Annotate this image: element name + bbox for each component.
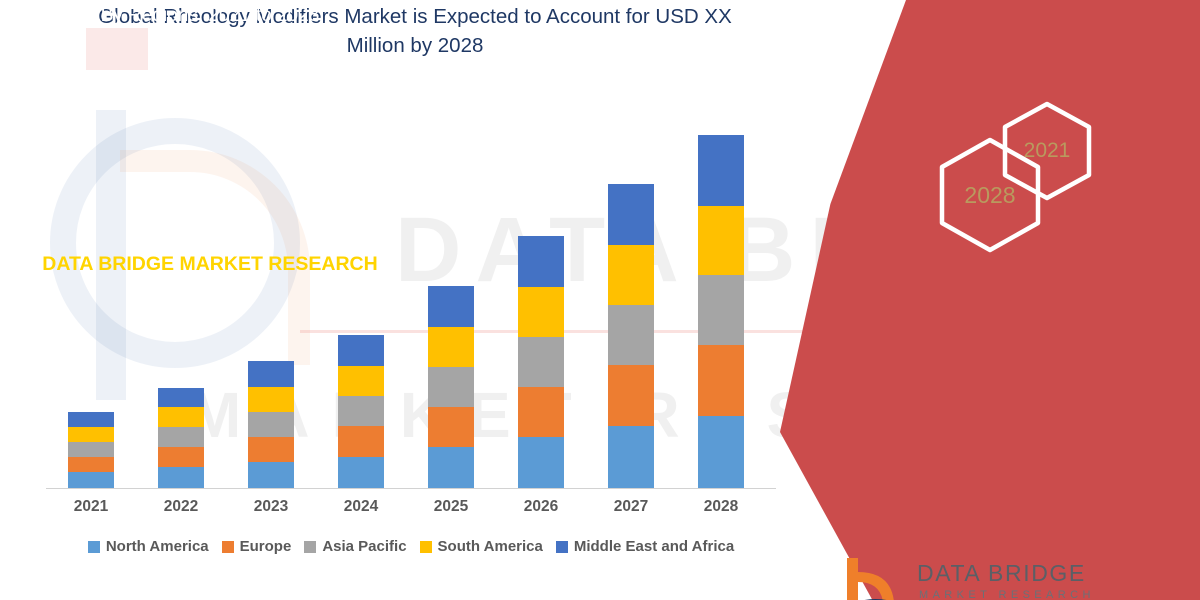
legend-swatch-icon — [420, 541, 432, 553]
bar-segment — [518, 236, 564, 287]
x-axis-label-2028: 2028 — [676, 498, 766, 516]
legend-item[interactable]: Middle East and Africa — [556, 538, 734, 555]
brand-logo-tagline: MARKET RESEARCH — [919, 589, 1095, 600]
bar-segment — [608, 184, 654, 245]
bar-segment — [338, 366, 384, 396]
legend-swatch-icon — [88, 541, 100, 553]
x-axis-label-2026: 2026 — [496, 498, 586, 516]
bar-segment — [698, 345, 744, 416]
bar-segment — [68, 457, 114, 472]
bar-segment — [608, 426, 654, 488]
x-axis-label-2024: 2024 — [316, 498, 406, 516]
bar-segment — [518, 337, 564, 387]
x-axis-line — [46, 488, 776, 489]
panel-brand-text: DATA BRIDGE MARKET RESEARCH — [40, 250, 380, 279]
bar-segment — [428, 447, 474, 488]
bar-segment — [158, 467, 204, 488]
bar-segment — [338, 457, 384, 488]
stacked-bar-2023 — [248, 361, 294, 488]
hexagon-badge-2021-label: 2021 — [1024, 139, 1071, 163]
panel-heading: By Regions, 2021 to 2028 — [0, 5, 420, 27]
legend-item[interactable]: Asia Pacific — [304, 538, 406, 555]
x-axis-label-2022: 2022 — [136, 498, 226, 516]
legend-swatch-icon — [304, 541, 316, 553]
x-axis-label-2023: 2023 — [226, 498, 316, 516]
stacked-bar-2026 — [518, 236, 564, 488]
legend-swatch-icon — [556, 541, 568, 553]
bar-segment — [428, 286, 474, 327]
bar-segment — [428, 367, 474, 407]
bar-segment — [698, 206, 744, 275]
bar-segment — [248, 361, 294, 387]
bar-segment — [68, 442, 114, 457]
bar-segment — [338, 396, 384, 426]
bar-segment — [248, 462, 294, 488]
chart-legend: North AmericaEuropeAsia PacificSouth Ame… — [46, 538, 776, 555]
stacked-bar-2028 — [698, 135, 744, 488]
brand-logo-name: DATA BRIDGE — [917, 560, 1086, 587]
bar-segment — [698, 275, 744, 345]
stacked-bar-2027 — [608, 184, 654, 488]
bar-segment — [518, 437, 564, 488]
legend-label: North America — [106, 538, 209, 555]
bar-segment — [338, 426, 384, 457]
bar-segment — [608, 245, 654, 305]
bar-segment — [428, 407, 474, 447]
legend-label: Asia Pacific — [322, 538, 406, 555]
chart-plot-area — [46, 95, 776, 488]
bar-segment — [608, 365, 654, 426]
bar-segment — [248, 387, 294, 412]
bar-segment — [698, 416, 744, 488]
bar-segment — [158, 407, 204, 427]
legend-label: Europe — [240, 538, 292, 555]
legend-item[interactable]: Europe — [222, 538, 292, 555]
stacked-bar-2021 — [68, 412, 114, 488]
legend-label: Middle East and Africa — [574, 538, 734, 555]
bar-segment — [68, 412, 114, 427]
bar-segment — [338, 335, 384, 366]
bar-segment — [248, 437, 294, 462]
stacked-bar-2024 — [338, 335, 384, 488]
infographic-canvas: DATA BRIDGE MARKET RESEARCH Global Rheol… — [0, 0, 1200, 600]
legend-label: South America — [438, 538, 543, 555]
brand-logo: DATA BRIDGE MARKET RESEARCH — [845, 556, 1165, 600]
stacked-bar-2022 — [158, 388, 204, 488]
bar-segment — [158, 427, 204, 447]
legend-swatch-icon — [222, 541, 234, 553]
bar-segment — [428, 327, 474, 367]
bar-segment — [68, 472, 114, 488]
bar-segment — [608, 305, 654, 365]
bar-segment — [68, 427, 114, 442]
x-axis-label-2027: 2027 — [586, 498, 676, 516]
x-axis-label-2025: 2025 — [406, 498, 496, 516]
right-side-panel — [780, 0, 1200, 600]
legend-item[interactable]: South America — [420, 538, 543, 555]
hexagon-badge-2028-label: 2028 — [964, 182, 1015, 209]
legend-item[interactable]: North America — [88, 538, 209, 555]
bar-segment — [158, 388, 204, 407]
stacked-bar-2025 — [428, 286, 474, 488]
bar-segment — [518, 287, 564, 337]
bridge-logo-icon — [845, 556, 907, 600]
bar-segment — [698, 135, 744, 206]
x-axis-label-2021: 2021 — [46, 498, 136, 516]
bar-segment — [248, 412, 294, 437]
bar-segment — [518, 387, 564, 437]
bar-segment — [158, 447, 204, 467]
